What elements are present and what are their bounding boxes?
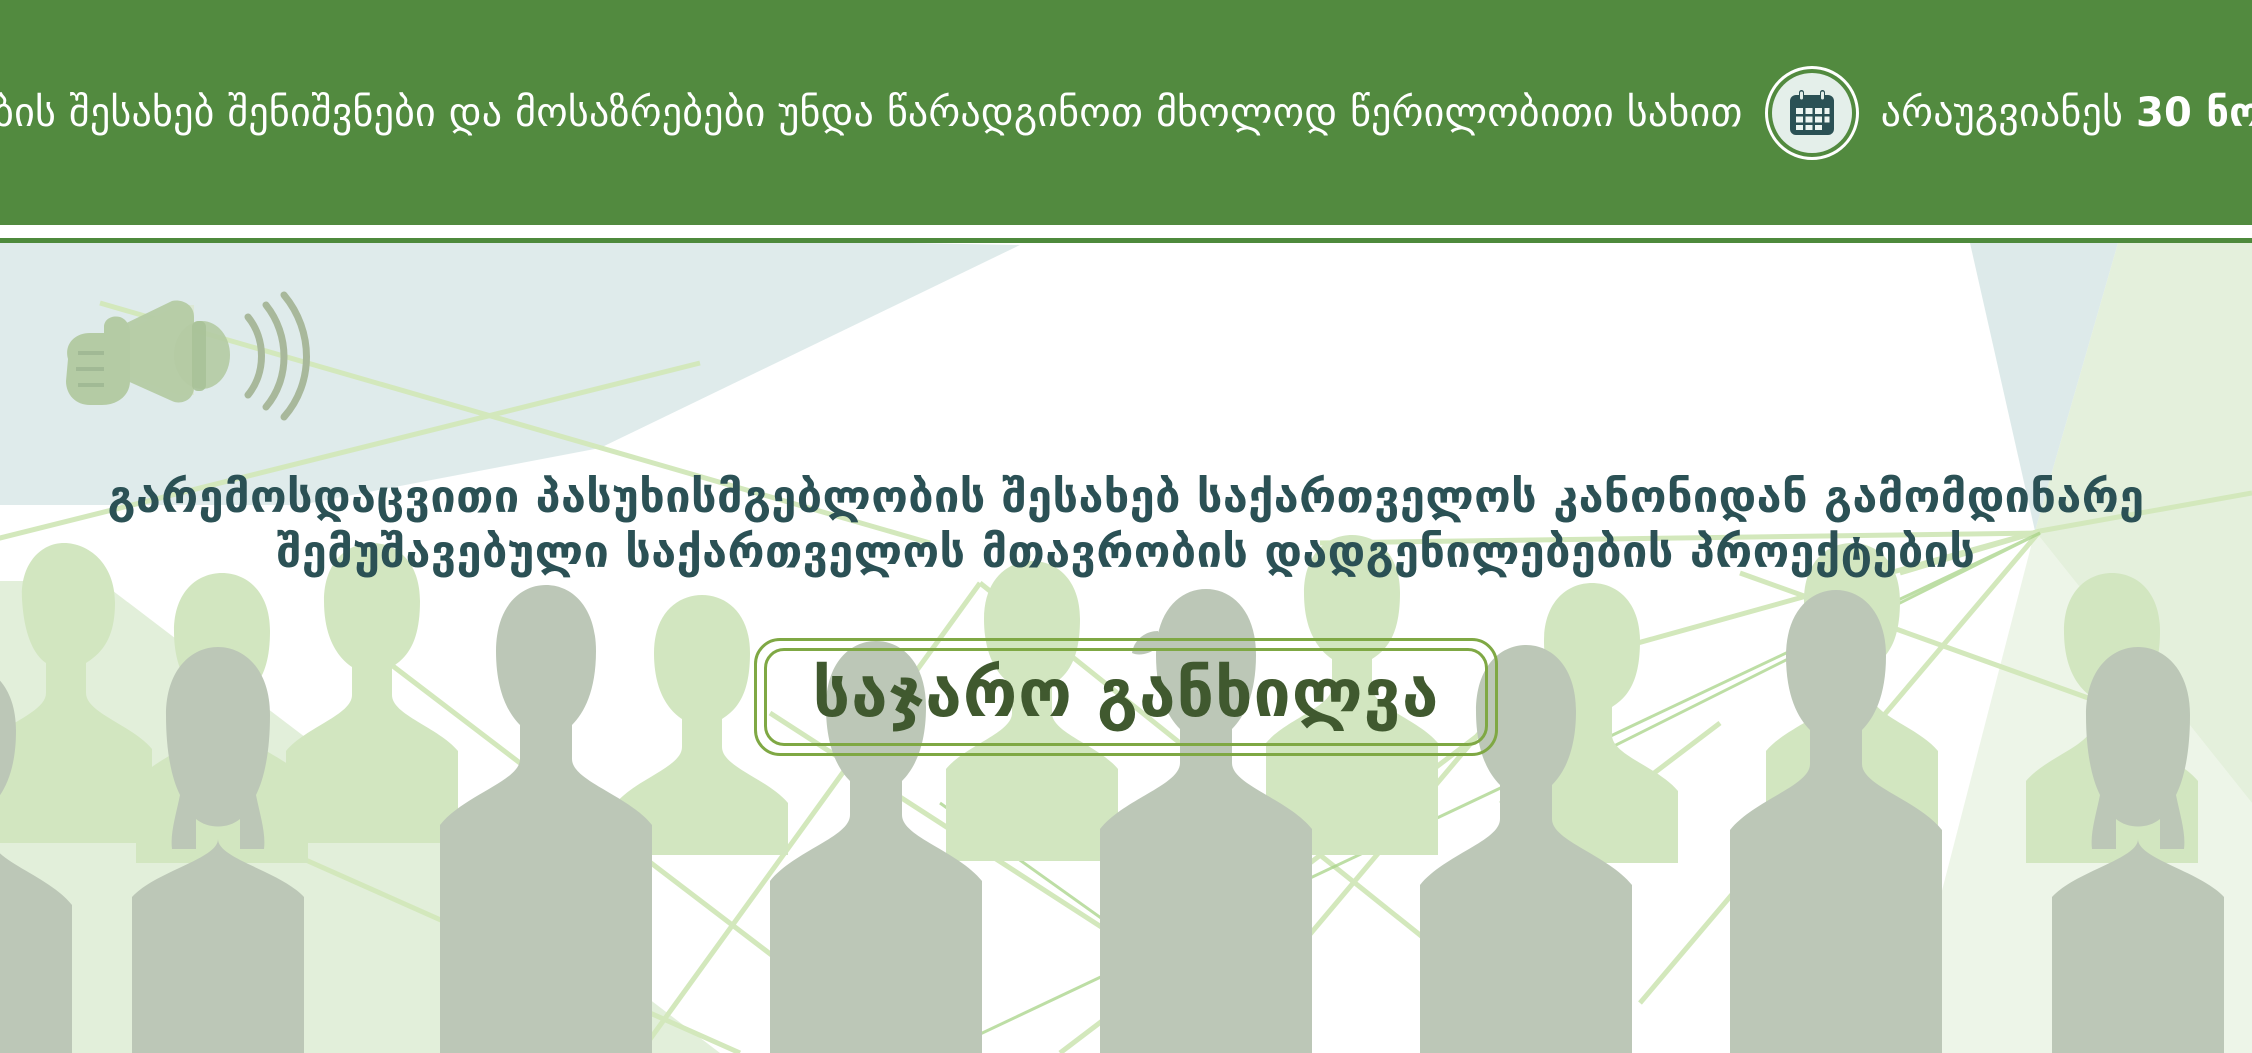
megaphone-icon [52, 283, 342, 423]
cta-inner-border: საჯარო განხილვა [764, 648, 1489, 746]
public-discussion-banner: პროექტების შესახებ შენიშვნები და მოსაზრე… [0, 0, 2252, 1053]
notice-deadline-prefix: არაუგვიანეს [1881, 90, 2123, 136]
cta-outer-border: საჯარო განხილვა [754, 638, 1499, 756]
headline-line-1: გარემოსდაცვითი პასუხისმგებლობის შესახებ … [0, 470, 2252, 525]
headline: გარემოსდაცვითი პასუხისმგებლობის შესახებ … [0, 470, 2252, 580]
cta-label: საჯარო განხილვა [813, 661, 1440, 727]
calendar-icon [1786, 87, 1838, 139]
notice-bar: პროექტების შესახებ შენიშვნები და მოსაზრე… [0, 0, 2252, 225]
cta-container: საჯარო განხილვა [0, 638, 2252, 756]
notice-deadline: არაუგვიანეს 30 ნოემბრისა [1881, 91, 2252, 135]
notice-text-before-icon: პროექტების შესახებ შენიშვნები და მოსაზრე… [0, 91, 1743, 135]
notice-deadline-date: 30 ნოემბრისა [2136, 90, 2252, 136]
notice-bar-content: პროექტების შესახებ შენიშვნები და მოსაზრე… [0, 66, 2252, 160]
headline-line-2: შემუშავებული საქართველოს მთავრობის დადგე… [0, 525, 2252, 580]
calendar-badge [1765, 66, 1859, 160]
